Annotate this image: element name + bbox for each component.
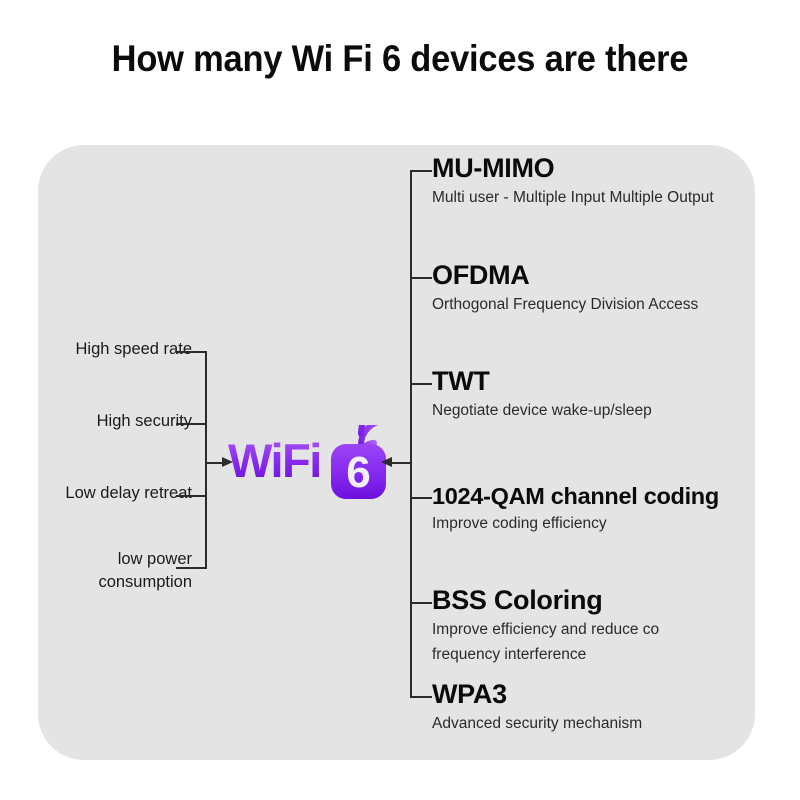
feature-desc-mu-mimo: Multi user - Multiple Input Multiple Out… bbox=[432, 185, 714, 210]
feature-item-wpa3: WPA3 Advanced security mechanism bbox=[432, 680, 642, 736]
feature-item-mu-mimo: MU-MIMO Multi user - Multiple Input Mult… bbox=[432, 154, 714, 210]
feature-stub-mu-mimo bbox=[410, 170, 432, 172]
wifi6-logo: WiFi 6 bbox=[228, 425, 398, 503]
feature-stub-twt bbox=[410, 383, 432, 385]
page-title: How many Wi Fi 6 devices are there bbox=[28, 38, 772, 80]
feature-stub-ofdma bbox=[410, 277, 432, 279]
feature-title-1024-qam: 1024-QAM channel coding bbox=[432, 484, 719, 509]
feature-item-ofdma: OFDMA Orthogonal Frequency Division Acce… bbox=[432, 261, 698, 317]
benefit-label-high-speed-rate: High speed rate bbox=[76, 338, 193, 361]
feature-desc-ofdma: Orthogonal Frequency Division Access bbox=[432, 292, 698, 317]
feature-item-twt: TWT Negotiate device wake-up/sleep bbox=[432, 367, 652, 423]
feature-stub-wpa3 bbox=[410, 696, 432, 698]
feature-desc-1024-qam: Improve coding efficiency bbox=[432, 511, 719, 536]
feature-item-bss-coloring: BSS Coloring Improve efficiency and redu… bbox=[432, 586, 728, 667]
arrow-left-icon bbox=[380, 456, 394, 470]
feature-stub-bss-coloring bbox=[410, 602, 432, 604]
left-stub-high-speed-rate bbox=[176, 351, 207, 353]
feature-title-wpa3: WPA3 bbox=[432, 680, 642, 709]
feature-title-ofdma: OFDMA bbox=[432, 261, 698, 290]
benefit-label-low-power-line2: consumption bbox=[98, 571, 192, 594]
benefit-label-high-security: High security bbox=[97, 410, 192, 433]
left-stub-low-power-consumption bbox=[176, 567, 207, 569]
left-bracket-spine bbox=[205, 351, 207, 567]
feature-desc-wpa3: Advanced security mechanism bbox=[432, 711, 642, 736]
feature-stub-1024-qam bbox=[410, 497, 432, 499]
feature-title-mu-mimo: MU-MIMO bbox=[432, 154, 714, 183]
badge-number: 6 bbox=[346, 448, 370, 497]
feature-item-1024-qam: 1024-QAM channel coding Improve coding e… bbox=[432, 484, 719, 536]
feature-title-bss-coloring: BSS Coloring bbox=[432, 586, 728, 615]
left-stub-high-security bbox=[176, 423, 207, 425]
benefit-label-low-delay-retreat: Low delay retreat bbox=[65, 482, 192, 505]
wifi-wordmark: WiFi bbox=[228, 437, 321, 484]
feature-desc-bss-coloring: Improve efficiency and reduce co frequen… bbox=[432, 617, 728, 667]
right-bracket-spine bbox=[410, 170, 412, 697]
feature-title-twt: TWT bbox=[432, 367, 652, 396]
left-stub-low-delay-retreat bbox=[176, 495, 207, 497]
feature-desc-twt: Negotiate device wake-up/sleep bbox=[432, 398, 652, 423]
